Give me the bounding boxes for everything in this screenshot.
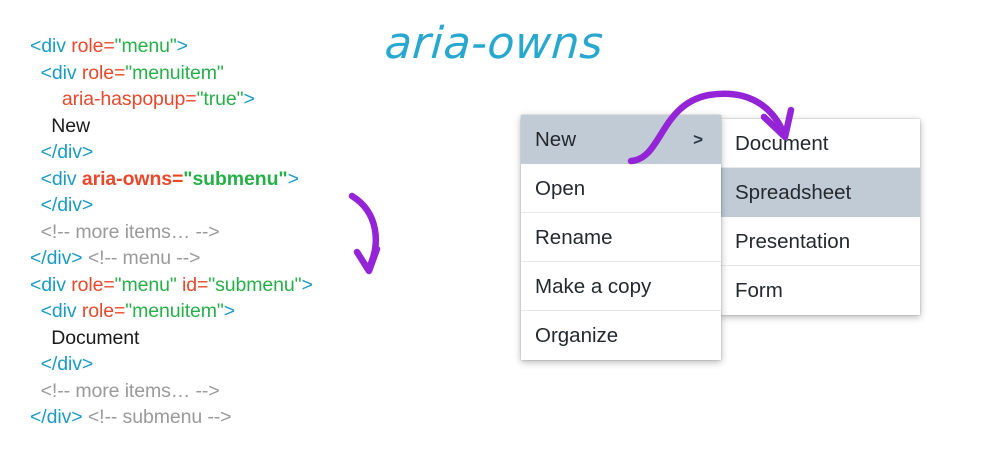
code-token-attr: role=	[82, 300, 125, 322]
code-line: </div>	[30, 192, 470, 219]
menu-item-label: Make a copy	[535, 275, 651, 298]
code-token-tag: >	[177, 35, 188, 57]
code-token-attr: aria-haspopup=	[62, 88, 197, 110]
code-token-tag: </div>	[41, 141, 94, 163]
submenu-item-document[interactable]: Document	[721, 119, 920, 168]
code-token-attr: role=	[71, 35, 114, 57]
code-token-attr: role=	[82, 62, 125, 84]
submenu-item-label: Form	[735, 279, 783, 302]
code-token-tag: <div	[41, 62, 82, 84]
code-token-tag: </div>	[30, 406, 83, 428]
submenu-item-spreadsheet[interactable]: Spreadsheet	[721, 168, 920, 217]
code-line: </div>	[30, 139, 470, 166]
code-token-tag: >	[224, 300, 235, 322]
menu-item-label: Organize	[535, 324, 618, 347]
code-line: </div> <!-- menu -->	[30, 245, 470, 272]
code-token-comment: <!-- more items… -->	[41, 380, 220, 402]
code-line: <div aria-owns="submenu">	[30, 166, 470, 193]
submenu-item-presentation[interactable]: Presentation	[721, 217, 920, 266]
menu-item-open[interactable]: Open	[521, 164, 721, 213]
code-token-tag: <div	[30, 274, 71, 296]
code-token-comment: <!-- menu -->	[83, 247, 201, 269]
menu-item-rename[interactable]: Rename	[521, 213, 721, 262]
code-line: <div role="menuitem">	[30, 298, 470, 325]
code-token-comment: <!-- submenu -->	[83, 406, 232, 428]
code-token-attr-bold: aria-owns=	[82, 168, 183, 190]
code-token-val-bold: "submenu"	[183, 168, 287, 190]
code-token-val: "true"	[197, 88, 244, 110]
page-title: aria-owns	[383, 18, 605, 69]
code-line: <!-- more items… -->	[30, 378, 470, 405]
code-token-tag: >	[288, 168, 299, 190]
submenu-item-label: Document	[735, 132, 828, 155]
menu-item-organize[interactable]: Organize	[521, 311, 721, 360]
menu-item-new[interactable]: New>	[521, 115, 721, 164]
code-token-attr: id=	[182, 274, 208, 296]
submenu-root: DocumentSpreadsheetPresentationForm	[721, 119, 920, 315]
code-token-tag: >	[243, 88, 254, 110]
code-token-val: "submenu"	[208, 274, 301, 296]
code-token-text: New	[51, 115, 90, 137]
menu-item-label: Rename	[535, 226, 613, 249]
code-line: aria-haspopup="true">	[30, 86, 470, 113]
code-token-val: "menu"	[115, 35, 177, 57]
chevron-right-icon: >	[693, 115, 703, 164]
code-token-tag: </div>	[41, 353, 94, 375]
code-line: </div> <!-- submenu -->	[30, 404, 470, 431]
code-token-comment: <!-- more items… -->	[41, 221, 220, 243]
code-token-attr: role=	[71, 274, 114, 296]
code-listing: <div role="menu"> <div role="menuitem" a…	[30, 33, 470, 431]
code-line: <!-- more items… -->	[30, 219, 470, 246]
menu-item-label: Open	[535, 177, 585, 200]
code-token-val: "menu"	[115, 274, 177, 296]
code-token-tag: >	[301, 274, 312, 296]
code-line: New	[30, 113, 470, 140]
menu-root: New>OpenRenameMake a copyOrganize	[521, 115, 721, 360]
code-token-tag: </div>	[41, 194, 94, 216]
submenu-item-label: Presentation	[735, 230, 850, 253]
code-token-text: Document	[51, 327, 139, 349]
code-token-tag: <div	[41, 168, 82, 190]
code-token-tag: </div>	[30, 247, 83, 269]
submenu-item-form[interactable]: Form	[721, 266, 920, 315]
code-token-val: "menuitem"	[125, 300, 223, 322]
submenu-item-label: Spreadsheet	[735, 181, 851, 204]
code-token-tag: <div	[41, 300, 82, 322]
code-line: Document	[30, 325, 470, 352]
menu-item-make-a-copy[interactable]: Make a copy	[521, 262, 721, 311]
menu-item-label: New	[535, 128, 576, 151]
code-line: </div>	[30, 351, 470, 378]
code-token-val: "menuitem"	[125, 62, 223, 84]
code-line: <div role="menu" id="submenu">	[30, 272, 470, 299]
code-token-tag: <div	[30, 35, 71, 57]
